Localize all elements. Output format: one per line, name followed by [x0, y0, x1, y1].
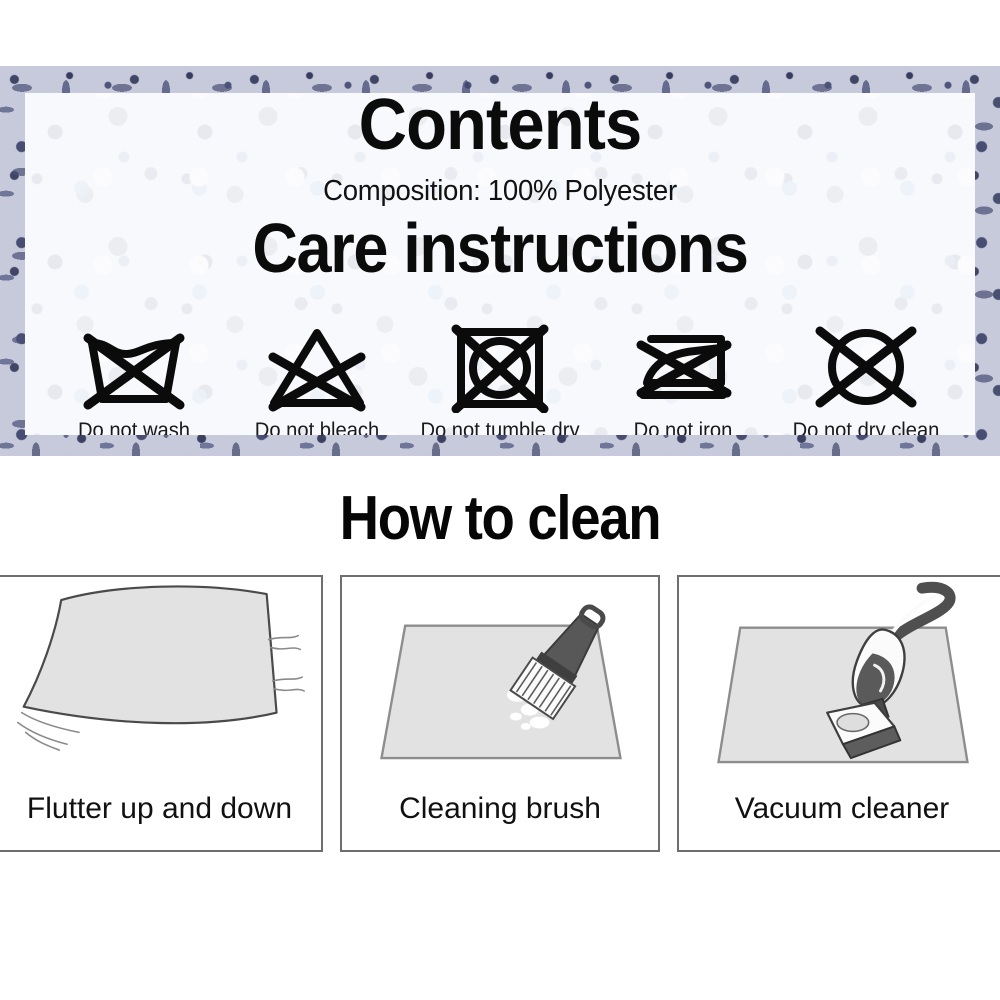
clean-method-panel-vacuum: Vacuum cleaner [677, 575, 1000, 852]
how-to-clean-heading: How to clean [60, 488, 940, 550]
panel-illustration [0, 577, 321, 789]
panel-caption: Flutter up and down [0, 792, 321, 826]
care-symbol-label: Do not wash [49, 419, 220, 435]
do-not-dry-clean-icon [808, 321, 924, 413]
vacuum-cleaner-icon [679, 577, 1000, 789]
fluttering-fabric-icon [0, 577, 321, 789]
banner-inner-panel: Contents Composition: 100% Polyester Car… [25, 93, 975, 435]
do-not-bleach-icon [259, 321, 375, 413]
clean-method-panel-brush: Cleaning brush [340, 575, 660, 852]
do-not-tumble-dry-icon [442, 321, 558, 413]
do-not-wash-icon [76, 321, 192, 413]
care-symbol-label: Do not tumble dry [415, 419, 586, 435]
care-instructions-heading: Care instructions [73, 213, 928, 283]
care-symbol-label: Do not iron [598, 419, 769, 435]
composition-text: Composition: 100% Polyester [49, 175, 952, 208]
care-symbol-do-not-tumble-dry: Do not tumble dry [411, 321, 589, 435]
clean-method-panel-flutter: Flutter up and down [0, 575, 323, 852]
care-symbol-do-not-bleach: Do not bleach [228, 321, 406, 435]
care-symbol-do-not-dry-clean: Do not dry clean [777, 321, 955, 435]
do-not-iron-icon [625, 321, 741, 413]
care-symbol-do-not-wash: Do not wash [45, 321, 223, 435]
panel-illustration [342, 577, 658, 789]
care-symbol-label: Do not bleach [232, 419, 403, 435]
care-instructions-banner: Contents Composition: 100% Polyester Car… [0, 66, 1000, 456]
panel-caption: Cleaning brush [342, 792, 658, 826]
contents-heading: Contents [58, 93, 942, 161]
how-to-clean-panels: Flutter up and down [0, 575, 1000, 855]
care-symbol-row: Do not wash Do not bleach [25, 321, 975, 435]
panel-illustration [679, 577, 1000, 789]
care-symbol-do-not-iron: Do not iron [594, 321, 772, 435]
panel-caption: Vacuum cleaner [679, 792, 1000, 826]
banner-content: Contents Composition: 100% Polyester Car… [25, 93, 975, 435]
care-symbol-label: Do not dry clean [781, 419, 952, 435]
cleaning-brush-icon [342, 577, 658, 789]
